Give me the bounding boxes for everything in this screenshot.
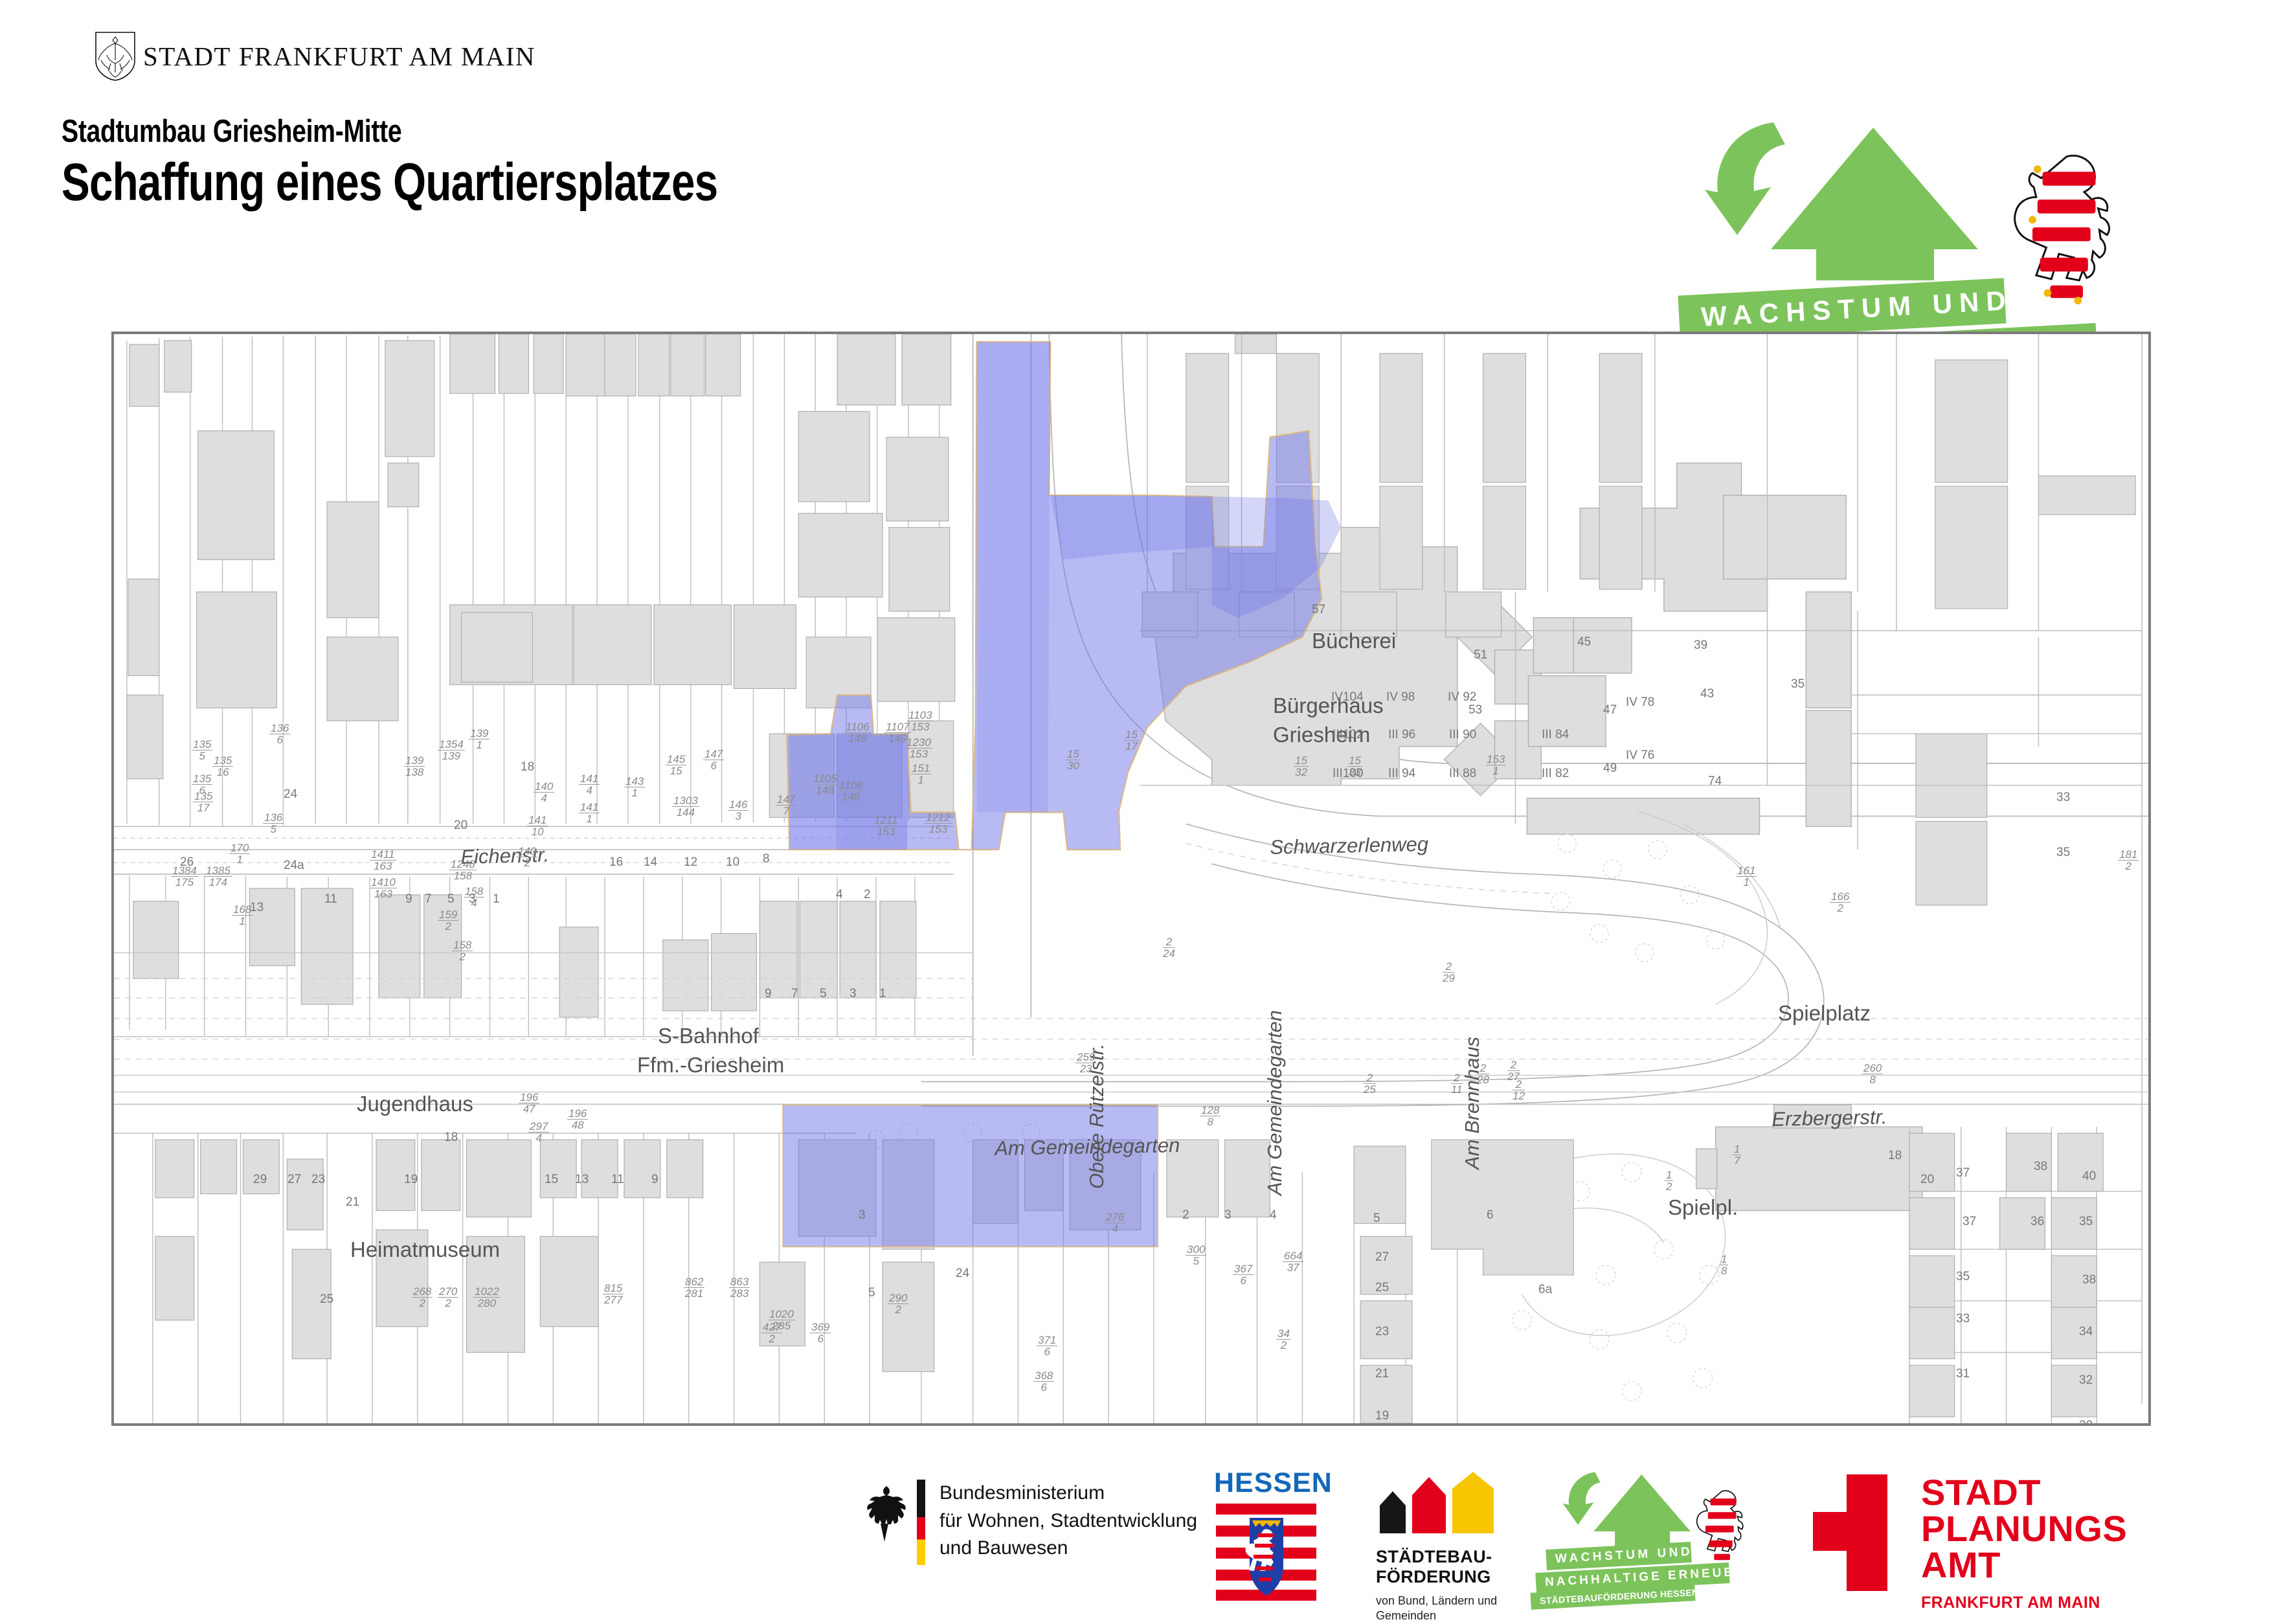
map-house-number: 18 bbox=[444, 1131, 458, 1145]
three-houses-icon bbox=[1376, 1472, 1505, 1533]
bmwsb-line1: Bundesministerium bbox=[939, 1480, 1197, 1507]
map-house-number: 7 bbox=[425, 892, 432, 907]
map-parcel-number: 1662 bbox=[1830, 891, 1850, 914]
map-house-number: 8 bbox=[763, 852, 770, 866]
map-parcel-number: 1592 bbox=[438, 909, 458, 932]
map-house-number: 37 bbox=[1963, 1215, 1976, 1229]
map-parcel-number: 3686 bbox=[1033, 1370, 1054, 1393]
map-house-number: 49 bbox=[1603, 761, 1617, 776]
map-parcel-number: 1476 bbox=[703, 749, 724, 772]
map-house-number: 5 bbox=[868, 1286, 875, 1300]
map-parcel-number: 1517 bbox=[1124, 729, 1139, 752]
hessen-shield-icon bbox=[1216, 1504, 1316, 1601]
map-house-number: 24 bbox=[956, 1267, 969, 1281]
map-parcel-number: 1410163 bbox=[370, 877, 397, 900]
map-parcel-number: 13516 bbox=[212, 755, 233, 778]
map-house-number: 47 bbox=[1603, 703, 1617, 717]
map-house-number: 19 bbox=[404, 1173, 418, 1187]
map-parcel-number: 342 bbox=[1276, 1328, 1291, 1351]
map-house-number: III102 bbox=[1333, 728, 1364, 742]
map-parcel-number: 14110 bbox=[527, 815, 548, 838]
map-house-number: 23 bbox=[1375, 1325, 1389, 1339]
map-parcel-number: 1230153 bbox=[905, 737, 932, 760]
map-parcel-number: 1611 bbox=[1736, 865, 1757, 888]
page-title: Schaffung eines Quartiersplatzes bbox=[62, 155, 717, 210]
map-parcel-number: 14515 bbox=[666, 754, 686, 777]
map-house-number: 12 bbox=[684, 855, 697, 870]
map-parcel-number: 1404 bbox=[534, 781, 554, 804]
map-parcel-number: 19648 bbox=[567, 1108, 588, 1131]
map-parcel-number: 229 bbox=[1443, 961, 1455, 984]
map-house-number: 27 bbox=[1375, 1250, 1389, 1265]
map-house-number: IV 92 bbox=[1448, 690, 1476, 705]
map-house-number: 3 bbox=[1224, 1208, 1232, 1223]
map-parcel-number: 1431 bbox=[624, 776, 645, 799]
map-house-number: 30 bbox=[2079, 1419, 2093, 1426]
map-house-number: 18 bbox=[1888, 1149, 1902, 1163]
map-house-number: 40 bbox=[2082, 1169, 2096, 1184]
map-house-number: 2 bbox=[864, 888, 871, 902]
map-parcel-number: 863283 bbox=[729, 1276, 750, 1300]
map-house-number: 1 bbox=[493, 892, 500, 907]
map-house-number: 11 bbox=[324, 892, 337, 907]
map-house-number: 23 bbox=[311, 1173, 325, 1187]
map-house-number: 32 bbox=[2079, 1373, 2093, 1388]
project-subtitle: Stadtumbau Griesheim-Mitte bbox=[62, 115, 717, 148]
map-house-number: 51 bbox=[1474, 648, 1487, 662]
spa-line1: STADT bbox=[1921, 1474, 2127, 1511]
map-parcel-number: 1477 bbox=[776, 794, 796, 817]
map-house-number: 24 bbox=[284, 787, 297, 802]
map-parcel-number: 1701 bbox=[229, 842, 250, 866]
map-parcel-number: 1248158 bbox=[449, 859, 477, 882]
map-place-label: Bücherei bbox=[1312, 629, 1396, 653]
map-house-number: 14 bbox=[644, 855, 657, 870]
spa-line2: PLANUNGS bbox=[1921, 1511, 2127, 1547]
map-house-number: 36 bbox=[2030, 1215, 2044, 1229]
map-parcel-number: 1366 bbox=[269, 723, 290, 746]
map-parcel-number: 224 bbox=[1163, 936, 1175, 960]
city-of-frankfurt-logo: STADT FRANKFURT AM MAIN bbox=[94, 31, 535, 82]
staedtebaufoerderung-logo: STÄDTEBAU- FÖRDERUNG von Bund, Ländern u… bbox=[1376, 1472, 1525, 1624]
map-parcel-number: 13517 bbox=[193, 791, 214, 814]
map-parcel-number: 1022280 bbox=[473, 1286, 501, 1309]
map-place-label: Bürgerhaus bbox=[1273, 694, 1384, 718]
map-house-number: III 84 bbox=[1542, 728, 1569, 742]
map-house-number: 33 bbox=[2056, 791, 2070, 805]
map-house-number: IV104 bbox=[1331, 690, 1364, 705]
map-house-number: 35 bbox=[1791, 677, 1805, 692]
map-house-number: 19 bbox=[1375, 1409, 1389, 1423]
map-house-number: 9 bbox=[405, 892, 412, 907]
hessen-logo: HESSEN bbox=[1214, 1469, 1318, 1604]
map-house-number: 57 bbox=[1312, 603, 1325, 617]
map-house-number: 15 bbox=[545, 1173, 558, 1187]
map-parcel-number: 815277 bbox=[603, 1283, 624, 1306]
map-house-number: 21 bbox=[346, 1195, 359, 1210]
map-house-number: III 96 bbox=[1388, 728, 1415, 742]
map-house-number: 7 bbox=[791, 987, 798, 1001]
map-house-number: 29 bbox=[1956, 1422, 1970, 1426]
map-house-number: 39 bbox=[1694, 638, 1707, 653]
city-wordmark-stadt: STADT bbox=[143, 43, 231, 70]
map-house-number: 18 bbox=[521, 760, 534, 774]
map-house-number: 6 bbox=[1487, 1208, 1494, 1223]
bmwsb-text: Bundesministerium für Wohnen, Stadtentwi… bbox=[939, 1480, 1197, 1562]
map-house-number: 3 bbox=[859, 1208, 866, 1223]
map-parcel-number: 2682 bbox=[412, 1286, 433, 1309]
map-parcel-number: 2608 bbox=[1862, 1063, 1883, 1086]
map-parcel-number: 1463 bbox=[728, 799, 748, 822]
map-house-number: 33 bbox=[1956, 1312, 1970, 1326]
map-house-number: 10 bbox=[726, 855, 739, 870]
map-house-number: 5 bbox=[1373, 1212, 1380, 1226]
german-flag-bar bbox=[917, 1480, 925, 1565]
map-house-number: 1 bbox=[879, 987, 886, 1001]
map-parcel-number: 25923 bbox=[1075, 1052, 1096, 1075]
map-parcel-number: 17 bbox=[1733, 1144, 1741, 1167]
map-parcel-number: 1411 bbox=[579, 802, 600, 825]
map-house-number: 5 bbox=[820, 987, 827, 1001]
map-house-number: 38 bbox=[2082, 1273, 2096, 1287]
map-house-number: 5 bbox=[447, 892, 455, 907]
map-house-number: 34 bbox=[2079, 1325, 2093, 1339]
map-parcel-number: 1531 bbox=[1485, 754, 1506, 777]
stadtplanungsamt-wordmark: STADT PLANUNGS AMT FRANKFURT AM MAIN bbox=[1921, 1474, 2127, 1611]
map-parcel-number: 1812 bbox=[2118, 849, 2139, 872]
map-house-number: 35 bbox=[2079, 1215, 2093, 1229]
map-house-number: III 94 bbox=[1388, 767, 1415, 781]
map-parcel-number: 1211153 bbox=[873, 815, 899, 838]
map-house-number: 31 bbox=[1956, 1367, 1970, 1381]
map-house-number: IV 98 bbox=[1386, 690, 1415, 705]
map-parcel-number: 1385174 bbox=[205, 865, 232, 888]
map-house-number: 9 bbox=[651, 1173, 658, 1187]
map-house-number: 35 bbox=[2056, 846, 2070, 860]
spa-line3: AMT bbox=[1921, 1547, 2127, 1583]
hessen-lion-icon-small bbox=[1693, 1487, 1755, 1566]
map-parcel-number: 18 bbox=[1720, 1254, 1728, 1277]
map-parcel-number: 12 bbox=[1665, 1169, 1673, 1193]
map-street-label: Am Gemeindegarten bbox=[1263, 1010, 1287, 1195]
bmwsb-line3: und Bauwesen bbox=[939, 1535, 1197, 1562]
map-parcel-number: 1402 bbox=[517, 846, 537, 869]
map-house-number: 3 bbox=[469, 892, 476, 907]
map-parcel-number: 1105148 bbox=[812, 773, 838, 796]
map-house-number: 35 bbox=[1956, 1270, 1970, 1284]
map-parcel-number: 139138 bbox=[404, 755, 425, 778]
bmwsb-line2: für Wohnen, Stadtentwicklung bbox=[939, 1507, 1197, 1535]
map-place-label: Ffm.-Griesheim bbox=[637, 1053, 784, 1077]
program-logo-footer: WACHSTUM UND NACHHALTIGE ERNEUERUNG STÄD… bbox=[1560, 1469, 1774, 1592]
map-parcel-number: 1511 bbox=[910, 763, 931, 786]
map-parcel-number: 1530 bbox=[1066, 749, 1081, 772]
map-parcel-number: 2974 bbox=[528, 1121, 549, 1144]
map-house-number: III 90 bbox=[1449, 728, 1476, 742]
staedtebau-title-line2: FÖRDERUNG bbox=[1376, 1567, 1525, 1587]
map-house-number: 38 bbox=[2034, 1160, 2047, 1174]
map-parcel-number: 19647 bbox=[519, 1092, 539, 1115]
map-parcel-number: 1106148 bbox=[844, 721, 871, 745]
map-parcel-number: 1106148 bbox=[838, 780, 864, 803]
map-parcel-number: 2764 bbox=[1105, 1212, 1125, 1235]
staedtebau-title: STÄDTEBAU- FÖRDERUNG bbox=[1376, 1547, 1525, 1587]
map-parcel-number: 1288 bbox=[1200, 1105, 1220, 1128]
staedtebau-title-line1: STÄDTEBAU- bbox=[1376, 1547, 1525, 1567]
map-house-number: 13 bbox=[575, 1173, 589, 1187]
map-place-label: Spielplatz bbox=[1778, 1001, 1871, 1026]
map-street-label: Am Brennhaus bbox=[1461, 1037, 1484, 1169]
map-house-number: 2 bbox=[1182, 1208, 1189, 1223]
map-street-label: Erzbergerstr. bbox=[1771, 1105, 1887, 1131]
map-parcel-number: 3696 bbox=[810, 1322, 831, 1345]
map-parcel-number: 225 bbox=[1364, 1072, 1376, 1096]
map-parcel-number: 3716 bbox=[1037, 1335, 1057, 1358]
map-house-number: 53 bbox=[1468, 703, 1482, 717]
staedtebau-sub-line2: Gemeinden bbox=[1376, 1608, 1525, 1623]
cadastral-map[interactable]: BüchereiBürgerhausGriesheimS-BahnhofFfm.… bbox=[111, 332, 2151, 1426]
map-street-label: Schwarzerlenweg bbox=[1270, 833, 1428, 859]
map-parcel-number: 1103153 bbox=[907, 710, 934, 733]
map-house-number: 43 bbox=[1700, 687, 1714, 701]
map-house-number: 74 bbox=[1708, 774, 1722, 789]
map-parcel-number: 2702 bbox=[438, 1286, 458, 1309]
map-parcel-number: 1303144 bbox=[672, 795, 699, 818]
map-parcel-number: 3005 bbox=[1186, 1244, 1206, 1267]
map-parcel-number: 3676 bbox=[1233, 1263, 1254, 1287]
map-house-number: IV 78 bbox=[1626, 695, 1654, 710]
map-house-number: 16 bbox=[609, 855, 623, 870]
map-house-number: 29 bbox=[253, 1173, 267, 1187]
frankfurt-eagle-crest-icon bbox=[94, 31, 137, 82]
map-parcel-number: 212 bbox=[1513, 1079, 1525, 1102]
map-parcel-number: 1354139 bbox=[438, 739, 465, 762]
map-house-number: 11 bbox=[611, 1173, 624, 1187]
map-house-number: 3 bbox=[849, 987, 857, 1001]
map-house-number: 6a bbox=[1538, 1283, 1552, 1297]
map-parcel-number: 1411163 bbox=[370, 849, 396, 872]
page-footer: Bundesministerium für Wohnen, Stadtentwi… bbox=[0, 1460, 2272, 1606]
map-parcel-number: 228 bbox=[1477, 1063, 1489, 1086]
map-parcel-number: 2902 bbox=[888, 1292, 908, 1316]
map-house-number: 45 bbox=[1577, 635, 1591, 649]
map-house-number: III100 bbox=[1333, 767, 1364, 781]
map-place-label: S-Bahnhof bbox=[658, 1024, 759, 1048]
map-parcel-number: 1582 bbox=[452, 940, 473, 963]
staedtebau-sub-line1: von Bund, Ländern und bbox=[1376, 1594, 1525, 1608]
map-house-number: III 88 bbox=[1449, 767, 1476, 781]
map-parcel-number: 1212153 bbox=[925, 812, 952, 835]
page-header: STADT FRANKFURT AM MAIN Stadtumbau Gries… bbox=[0, 0, 2272, 304]
map-house-number: 24a bbox=[284, 859, 304, 873]
map-parcel-number: 66437 bbox=[1283, 1250, 1303, 1274]
spa-subtitle: FRANKFURT AM MAIN bbox=[1921, 1595, 2127, 1611]
map-parcel-number: 211 bbox=[1451, 1072, 1463, 1096]
bmwsb-logo: Bundesministerium für Wohnen, Stadtentwi… bbox=[861, 1480, 1197, 1565]
map-house-number: 21 bbox=[1375, 1367, 1389, 1381]
map-house-number: 4 bbox=[836, 888, 843, 902]
bundesadler-icon bbox=[861, 1483, 908, 1546]
map-parcel-number: 1391 bbox=[469, 728, 489, 751]
map-house-number: 13 bbox=[250, 901, 264, 915]
map-house-number: 20 bbox=[454, 818, 467, 833]
map-place-label: Jugendhaus bbox=[357, 1092, 473, 1116]
map-parcel-number: 4272 bbox=[761, 1322, 782, 1345]
city-wordmark: STADT FRANKFURT AM MAIN bbox=[143, 43, 535, 70]
map-parcel-number: 1355 bbox=[192, 739, 212, 762]
map-house-number: 26 bbox=[180, 855, 194, 870]
map-house-number: 4 bbox=[1270, 1208, 1277, 1223]
map-parcel-number: 1532 bbox=[1294, 755, 1309, 778]
map-house-number: III 82 bbox=[1542, 767, 1569, 781]
hessen-lion-icon bbox=[2007, 149, 2133, 311]
map-house-number: 20 bbox=[1920, 1173, 1934, 1187]
map-parcel-number: 1365 bbox=[263, 812, 284, 835]
map-house-number: 27 bbox=[287, 1173, 301, 1187]
map-house-number: 37 bbox=[1956, 1166, 1970, 1180]
staedtebau-subtitle: von Bund, Ländern und Gemeinden bbox=[1376, 1594, 1525, 1624]
hessen-wordmark: HESSEN bbox=[1214, 1469, 1318, 1497]
map-house-number: 9 bbox=[765, 987, 772, 1001]
map-place-label: Heimatmuseum bbox=[350, 1237, 500, 1262]
title-block: Stadtumbau Griesheim-Mitte Schaffung ein… bbox=[62, 115, 882, 211]
map-parcel-number: 1414 bbox=[579, 773, 600, 796]
stadtplanungsamt-logo: STADT PLANUNGS AMT FRANKFURT AM MAIN bbox=[1813, 1474, 2127, 1611]
stadtplanungsamt-mark-icon bbox=[1813, 1474, 1887, 1591]
city-wordmark-frankfurt: FRANKFURT AM MAIN bbox=[239, 43, 535, 70]
map-house-number: 25 bbox=[320, 1292, 333, 1307]
map-house-number: 25 bbox=[1375, 1281, 1389, 1295]
map-place-label: Spielpl. bbox=[1668, 1195, 1738, 1220]
map-parcel-number: 862281 bbox=[684, 1276, 704, 1300]
map-house-number: IV 76 bbox=[1626, 749, 1654, 763]
